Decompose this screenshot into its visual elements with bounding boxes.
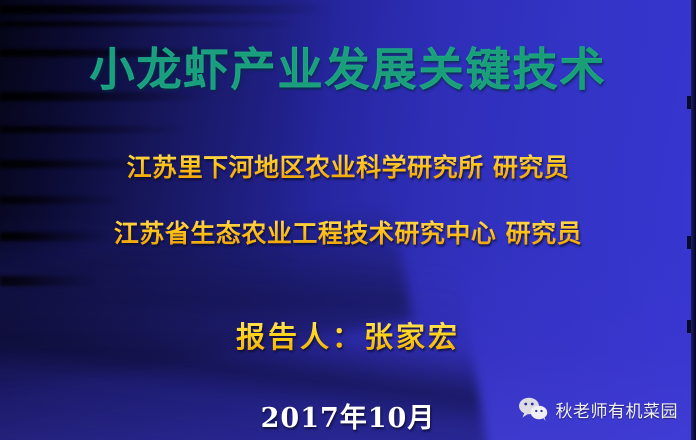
presenter-name: 报告人：张家宏 xyxy=(0,314,696,356)
slide-content: 小龙虾产业发展关键技术 江苏里下河地区农业科学研究所 研究员 江苏省生态农业工程… xyxy=(0,0,696,440)
affiliation-line-1: 江苏里下河地区农业科学研究所 研究员 xyxy=(0,148,696,184)
affiliation-line-2: 江苏省生态农业工程技术研究中心 研究员 xyxy=(0,214,696,250)
wechat-account-name: 秋老师有机菜园 xyxy=(556,397,679,422)
wechat-icon xyxy=(518,396,548,422)
wechat-watermark[interactable]: 秋老师有机菜园 xyxy=(518,396,679,422)
presentation-slide: 小龙虾产业发展关键技术 江苏里下河地区农业科学研究所 研究员 江苏省生态农业工程… xyxy=(0,0,696,440)
slide-title: 小龙虾产业发展关键技术 xyxy=(0,33,696,98)
